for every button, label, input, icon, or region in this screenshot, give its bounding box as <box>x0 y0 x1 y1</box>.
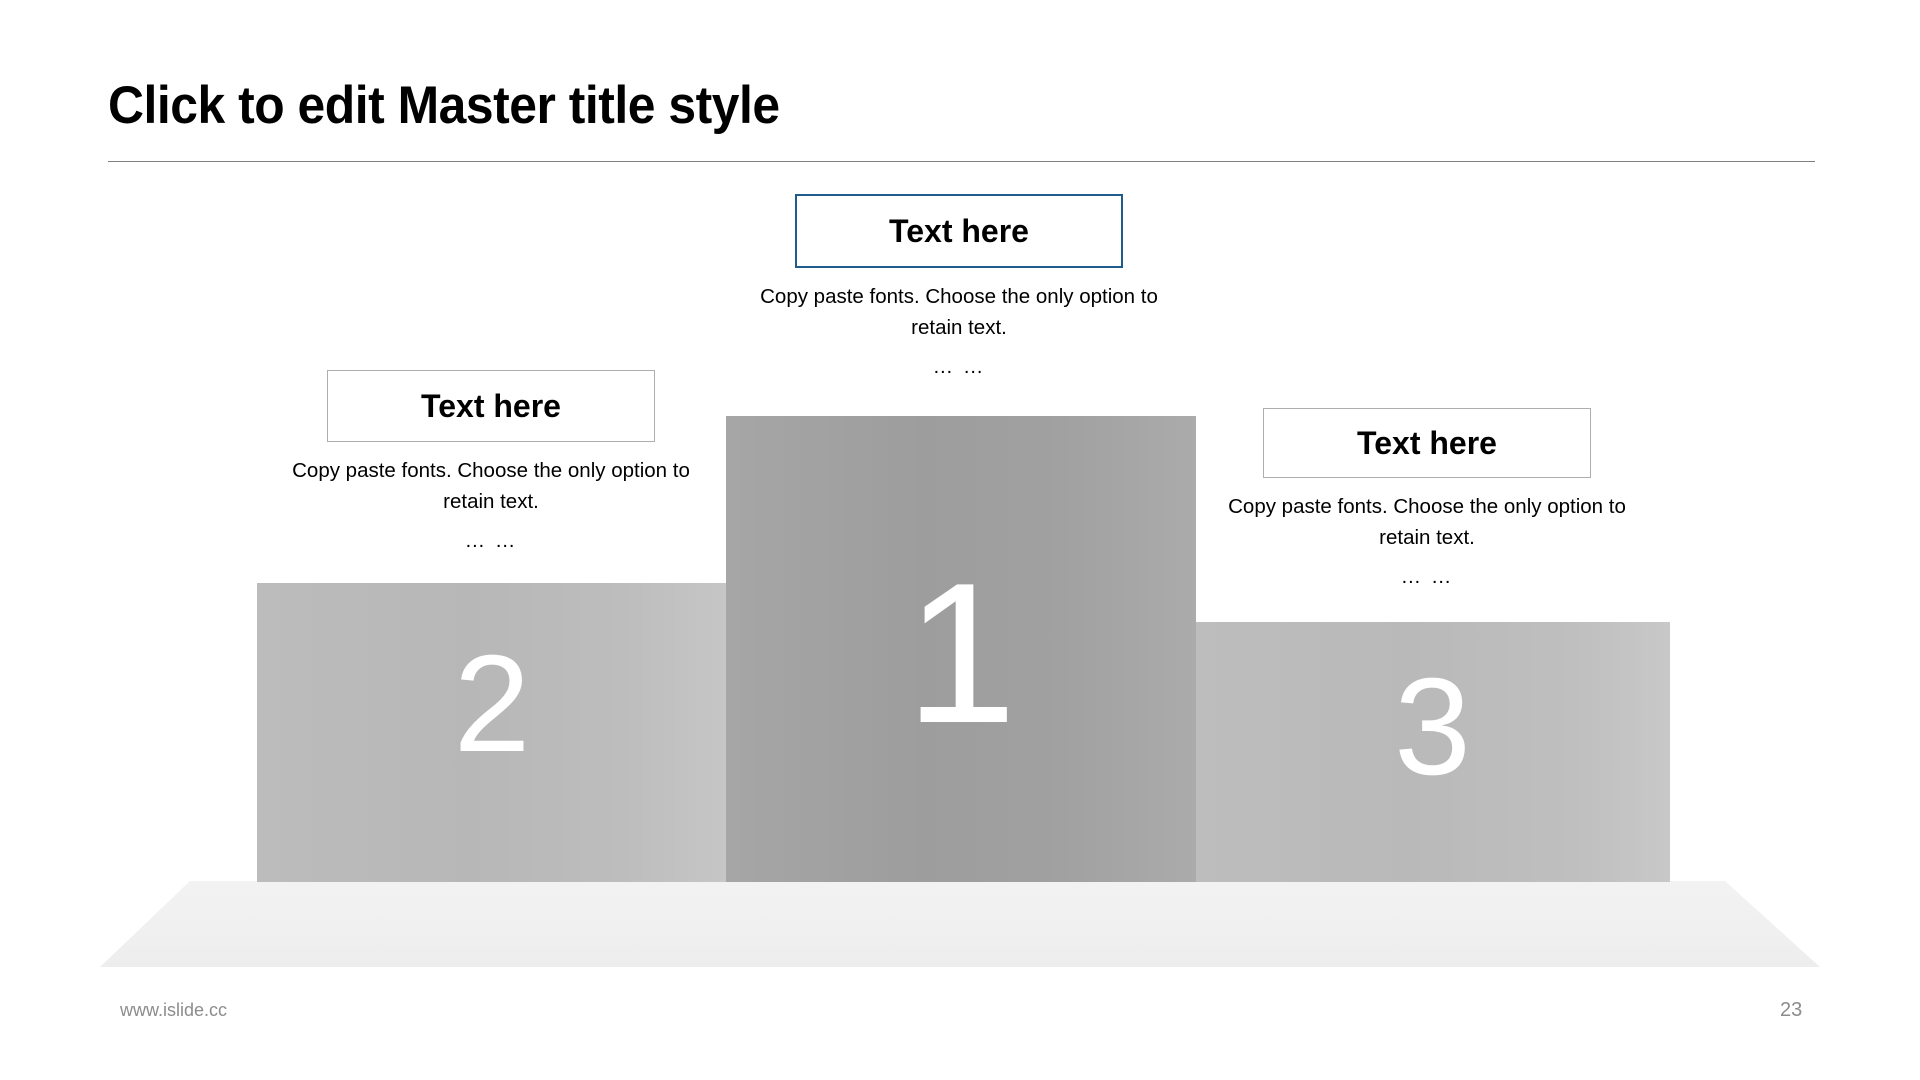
footer-page-number: 23 <box>1780 999 1802 1022</box>
callout-center: Text here Copy paste fonts. Choose the o… <box>795 194 1123 379</box>
callout-center-heading-box[interactable]: Text here <box>795 194 1123 268</box>
callout-center-body[interactable]: Copy paste fonts. Choose the only option… <box>744 281 1174 343</box>
footer-url[interactable]: www.islide.cc <box>120 1000 227 1021</box>
callout-left-heading: Text here <box>421 388 561 425</box>
callout-left-ellipsis: … … <box>276 529 706 553</box>
podium-block-second[interactable]: 2 <box>257 583 727 882</box>
podium-block-first[interactable]: 1 <box>726 416 1196 882</box>
callout-right-body[interactable]: Copy paste fonts. Choose the only option… <box>1212 491 1642 553</box>
callout-center-ellipsis: … … <box>744 355 1174 379</box>
title-divider <box>108 161 1815 162</box>
callout-right-heading-box[interactable]: Text here <box>1263 408 1591 478</box>
podium-rank-2: 2 <box>257 635 727 773</box>
callout-right-ellipsis: … … <box>1212 565 1642 589</box>
callout-right: Text here Copy paste fonts. Choose the o… <box>1263 408 1591 589</box>
callout-right-heading: Text here <box>1357 425 1497 462</box>
podium-rank-1: 1 <box>726 554 1196 754</box>
page-title[interactable]: Click to edit Master title style <box>108 78 780 134</box>
callout-center-heading: Text here <box>889 213 1029 250</box>
callout-left: Text here Copy paste fonts. Choose the o… <box>327 370 655 553</box>
callout-left-heading-box[interactable]: Text here <box>327 370 655 442</box>
podium-base <box>100 881 1820 967</box>
podium-rank-3: 3 <box>1195 658 1670 796</box>
callout-left-body[interactable]: Copy paste fonts. Choose the only option… <box>276 455 706 517</box>
slide-canvas: Click to edit Master title style 2 3 1 T… <box>0 0 1920 1080</box>
podium-block-third[interactable]: 3 <box>1195 622 1670 882</box>
